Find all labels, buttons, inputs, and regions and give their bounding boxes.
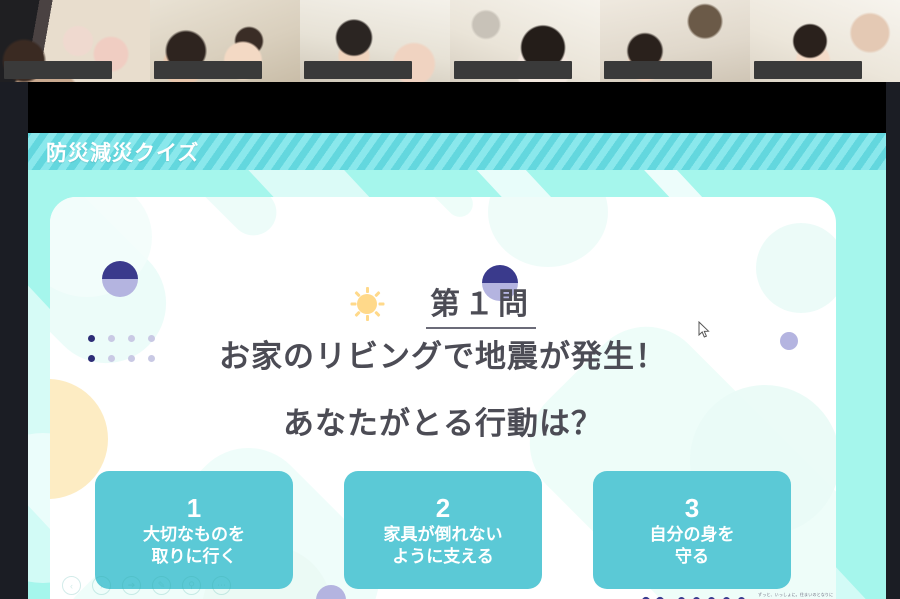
answer-option-1-text: 大切なものを 取りに行く bbox=[143, 524, 245, 568]
presentation-app-right-frame bbox=[886, 82, 900, 599]
answer-option-3-number: 3 bbox=[685, 495, 699, 522]
slide-footer: ずっと、いっしょに。住まいのとなりに POLUS ポラスグループ bbox=[640, 593, 820, 599]
slide-content-panel: 第１問 お家のリビングで地震が発生！ あなたがとる行動は？ 1 大切なものを 取… bbox=[50, 197, 836, 599]
question-number-row: 第１問 bbox=[50, 279, 836, 329]
participant-video-strip bbox=[0, 0, 900, 82]
more-options-icon[interactable]: ⋯ bbox=[212, 576, 231, 595]
answer-option-1[interactable]: 1 大切なものを 取りに行く bbox=[95, 471, 293, 589]
answer-option-3-text: 自分の身を 守る bbox=[650, 524, 735, 568]
answer-option-2[interactable]: 2 家具が倒れない ように支える bbox=[344, 471, 542, 589]
participant-tile-1[interactable] bbox=[0, 0, 150, 82]
participant-name-label-redacted bbox=[304, 61, 412, 79]
participant-name-label-redacted bbox=[604, 61, 712, 79]
question-number-wrap: 第１問 bbox=[426, 279, 536, 329]
previous-slide-icon[interactable]: ‹ bbox=[62, 576, 81, 595]
presentation-toolbar[interactable]: ‹ › ➔ ✎ ⚲ ⋯ bbox=[62, 576, 231, 595]
answer-option-3[interactable]: 3 自分の身を 守る bbox=[593, 471, 791, 589]
participant-tile-6[interactable] bbox=[750, 0, 900, 82]
decor-x-icon bbox=[640, 595, 666, 599]
presentation-app-left-frame bbox=[0, 82, 28, 599]
participant-name-label-redacted bbox=[154, 61, 262, 79]
shared-screen-area: 防災減災クイズ bbox=[0, 82, 900, 599]
panel-decor-sweep-3 bbox=[248, 197, 479, 222]
participant-name-label-redacted bbox=[4, 61, 112, 79]
answer-option-2-number: 2 bbox=[436, 495, 450, 522]
answer-option-1-number: 1 bbox=[187, 495, 201, 522]
quiz-slide: 防災減災クイズ bbox=[28, 133, 886, 599]
polus-logo: ずっと、いっしょに。住まいのとなりに POLUS ポラスグループ bbox=[758, 593, 820, 599]
slide-banner-title: 防災減災クイズ bbox=[46, 137, 199, 167]
decor-footer-dot-grid bbox=[676, 595, 748, 599]
screen-share-window: 防災減災クイズ bbox=[0, 0, 900, 599]
answer-option-2-text: 家具が倒れない ように支える bbox=[384, 524, 503, 568]
participant-name-label-redacted bbox=[454, 61, 572, 79]
participant-tile-5[interactable] bbox=[600, 0, 750, 82]
next-slide-icon[interactable]: › bbox=[92, 576, 111, 595]
participant-tile-4[interactable] bbox=[450, 0, 600, 82]
question-line-2: あなたがとる行動は？ bbox=[50, 398, 836, 443]
answer-options: 1 大切なものを 取りに行く 2 家具が倒れない ように支える 3 自分の身を … bbox=[50, 471, 836, 589]
participant-tile-2[interactable] bbox=[150, 0, 300, 82]
pointer-icon[interactable]: ➔ bbox=[122, 576, 141, 595]
question-line-1: お家のリビングで地震が発生！ bbox=[50, 331, 836, 376]
annotate-icon[interactable]: ✎ bbox=[152, 576, 171, 595]
zoom-icon[interactable]: ⚲ bbox=[182, 576, 201, 595]
participant-tile-3[interactable] bbox=[300, 0, 450, 82]
sun-icon bbox=[350, 287, 384, 321]
question-number: 第１問 bbox=[426, 279, 536, 329]
panel-decor-blob-mint-5 bbox=[488, 197, 608, 267]
participant-name-label-redacted bbox=[754, 61, 862, 79]
slide-banner: 防災減災クイズ bbox=[28, 133, 886, 170]
